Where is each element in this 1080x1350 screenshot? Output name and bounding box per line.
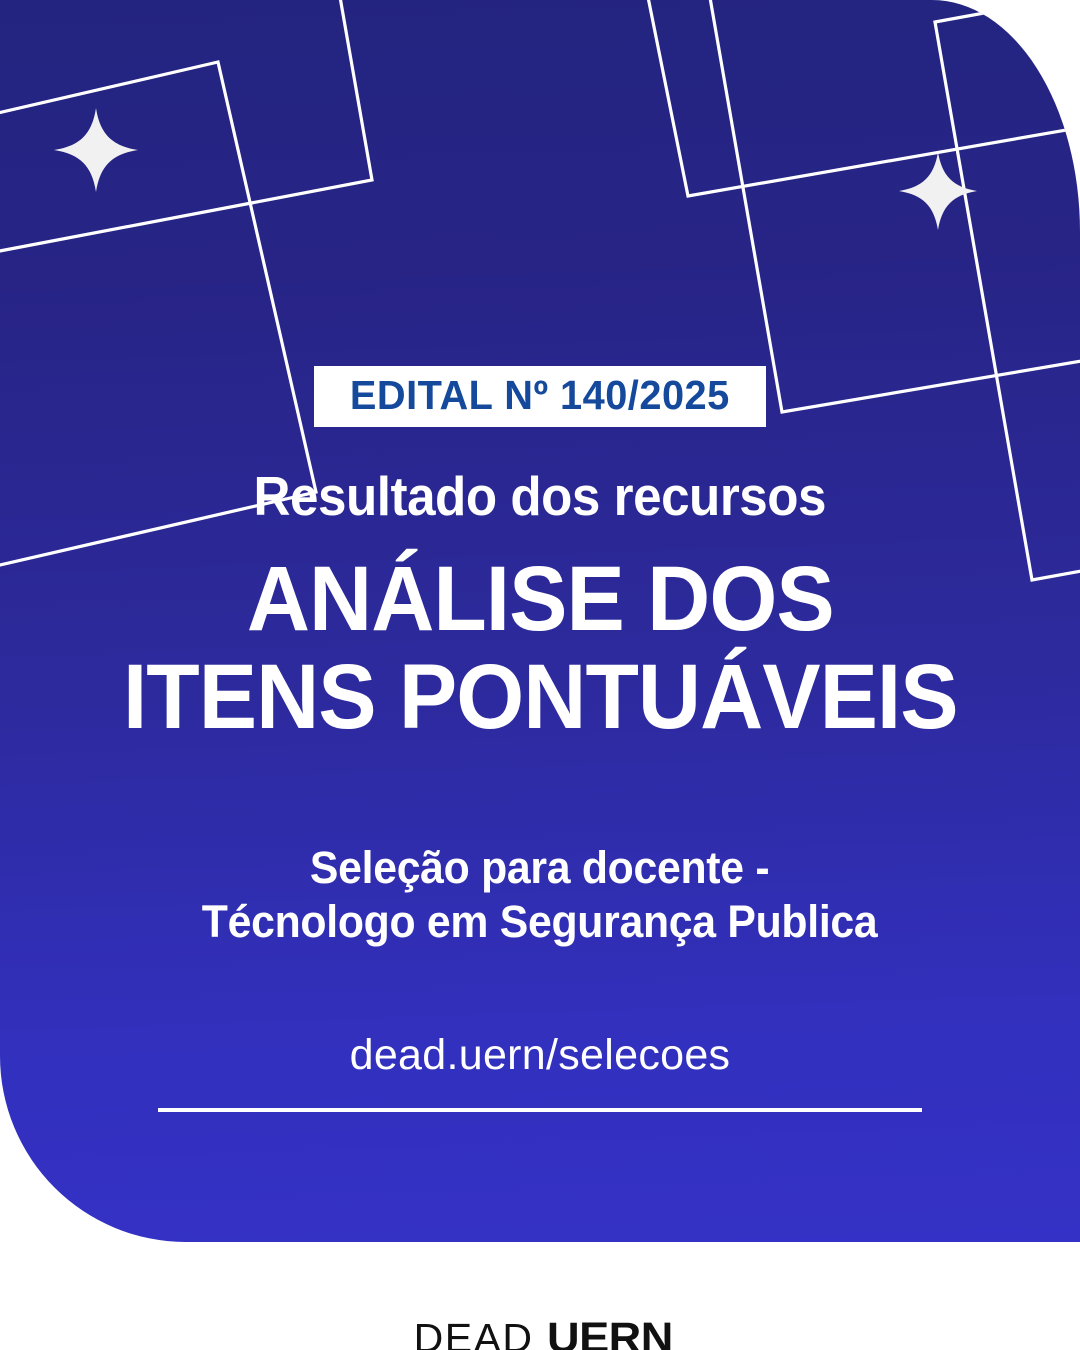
website-url[interactable]: dead.uern/selecoes [350, 1034, 731, 1077]
edital-badge: EDITAL Nº 140/2025 [314, 366, 766, 427]
footer-bar: DEAD UERN [0, 1242, 1080, 1350]
blue-panel: EDITAL Nº 140/2025 Resultado dos recurso… [0, 0, 1080, 1242]
page-title-line-1: ANÁLISE DOS [123, 550, 958, 648]
logo-dead-text: DEAD [414, 1318, 534, 1350]
edital-badge-label: EDITAL Nº 140/2025 [350, 375, 730, 416]
subtitle-line-1: Seleção para docente - [202, 841, 878, 896]
logo-uern-text: UERN [547, 1317, 673, 1350]
subtitle-line-2: Técnologo em Segurança Publica [202, 895, 878, 950]
divider-rule [158, 1108, 922, 1112]
poster-root: EDITAL Nº 140/2025 Resultado dos recurso… [0, 0, 1080, 1350]
eyebrow-text: Resultado dos recursos [254, 469, 826, 524]
dead-uern-logo: DEAD UERN [414, 1317, 667, 1350]
page-title-line-2: ITENS PONTUÁVEIS [123, 648, 958, 746]
page-title: ANÁLISE DOS ITENS PONTUÁVEIS [123, 550, 958, 747]
subtitle: Seleção para docente - Técnologo em Segu… [202, 841, 878, 951]
poster-content: EDITAL Nº 140/2025 Resultado dos recurso… [0, 0, 1080, 1242]
